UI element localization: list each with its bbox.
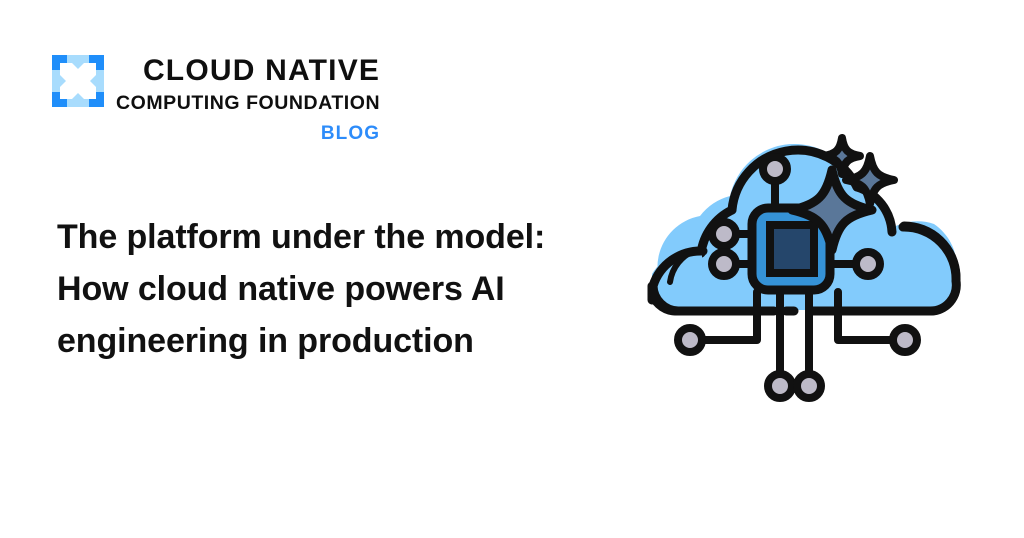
page-title-line-3: engineering in production — [57, 315, 617, 367]
cloud-ai-chip-illustration — [604, 124, 1000, 408]
node-bottom-center-right — [797, 374, 821, 398]
cncf-logo-wordmark: CLOUD NATIVE COMPUTING FOUNDATION BLOG — [116, 55, 380, 143]
node-right — [856, 252, 880, 276]
page-title-line-1: The platform under the model: — [57, 211, 617, 263]
brand-section-label[interactable]: BLOG — [321, 124, 380, 143]
cncf-logo-mark-icon — [52, 55, 104, 107]
node-left-upper — [712, 222, 736, 246]
node-bottom-center-left — [768, 374, 792, 398]
node-bottom-left — [678, 328, 702, 352]
brand-name-line-2: COMPUTING FOUNDATION — [116, 94, 380, 114]
brand-name-line-1: CLOUD NATIVE — [143, 56, 380, 86]
node-top — [763, 157, 787, 181]
cloud-ai-chip-svg — [604, 124, 1000, 408]
blog-header-banner: CLOUD NATIVE COMPUTING FOUNDATION BLOG T… — [0, 0, 1024, 538]
page-title-line-2: How cloud native powers AI — [57, 263, 617, 315]
cncf-logo-lockup[interactable]: CLOUD NATIVE COMPUTING FOUNDATION BLOG — [52, 55, 380, 143]
page-title: The platform under the model: How cloud … — [57, 211, 617, 368]
node-left-lower — [712, 252, 736, 276]
node-bottom-right — [893, 328, 917, 352]
